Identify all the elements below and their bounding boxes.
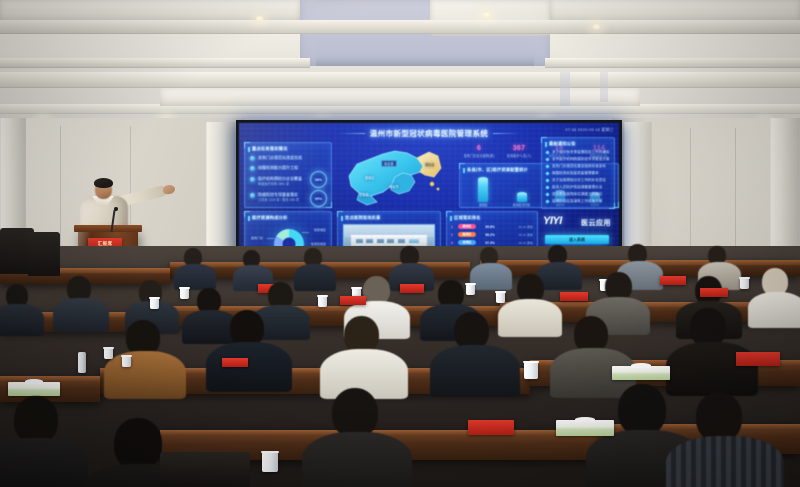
ceiling-strip	[560, 72, 570, 106]
tissue-box	[8, 382, 60, 396]
bar-label: 鹿城区	[479, 203, 487, 207]
map-island	[430, 182, 434, 186]
rank-percent: 99.8%	[479, 225, 501, 229]
person-head	[696, 392, 742, 442]
bar-column: 瓯海区/龙湾区	[513, 192, 531, 208]
heading-tick-icon	[450, 216, 452, 221]
news-row[interactable]: 发热门诊规范化建设验收标准发布	[546, 164, 610, 169]
panel-task-progress[interactable]: 重点任务落实情况 发热门诊规范化改造完成 核酸检测能力提升工程 医疗机构预检分诊…	[244, 142, 332, 208]
person-body	[430, 345, 520, 397]
ceiling-coffer	[550, 0, 800, 22]
person-head	[618, 384, 666, 436]
news-title: 关于做好秋冬季疫情防控工作的通知	[552, 150, 610, 155]
list-item[interactable]: 发热门诊规范化改造完成	[250, 155, 302, 161]
name-placard	[700, 288, 728, 297]
water-cup	[180, 288, 189, 299]
diamond-icon	[545, 164, 549, 168]
photo-window	[387, 239, 394, 242]
person-head	[114, 418, 162, 470]
map-label: 永嘉县	[381, 160, 397, 167]
news-row[interactable]: 关于加强预检分诊工作的补充意见	[546, 178, 610, 183]
dashboard-screen[interactable]: 温州市新型冠状病毒医院管理系统 07:38 2020-09-16 星期三 重点任…	[239, 123, 619, 259]
rank-number: 2	[451, 233, 455, 237]
panel-heading-text: 各县(市、区)医疗资源配置统计	[467, 167, 528, 173]
name-placard	[736, 352, 780, 366]
person-body	[666, 436, 784, 487]
list-item-label: 发热门诊规范化改造完成	[258, 155, 302, 160]
microphone-head	[114, 207, 118, 211]
diamond-icon	[545, 192, 549, 196]
kpi-card[interactable]: 367 在岗医护人员(人)	[499, 145, 539, 158]
rank-number: 1	[451, 225, 455, 229]
panel-heading: 医疗资源构成分析	[248, 214, 288, 222]
led-display-bezel: 温州市新型冠状病毒医院管理系统 07:38 2020-09-16 星期三 重点任…	[236, 120, 622, 262]
list-item-label: 院感防控专项督查落实	[250, 192, 298, 197]
person-body	[104, 351, 186, 399]
bullet-icon	[250, 166, 255, 171]
news-row[interactable]: 核酸检测实验室质量管理要求	[546, 171, 610, 176]
rank-number: 3	[451, 241, 455, 245]
news-row[interactable]: 全市医疗机构院感防控专项督查方案	[546, 157, 610, 162]
list-item[interactable]: 核酸检测能力提升工程	[250, 165, 298, 171]
diamond-icon	[545, 171, 549, 175]
list-item-sublabel: 覆盖医疗机构 2861 家	[250, 182, 289, 187]
rank-percent: 97.4%	[479, 241, 501, 245]
bar	[478, 178, 488, 202]
person-body	[498, 299, 562, 337]
photo-building	[351, 235, 427, 246]
list-item[interactable]: 医疗机构预检分诊全覆盖 覆盖医疗机构 2861 家	[250, 176, 302, 187]
donut-leader-line	[302, 232, 309, 233]
rank-date: 09-16 更新	[504, 233, 533, 237]
name-placard	[660, 276, 686, 285]
brand-logo: YIYI	[543, 215, 562, 227]
ceiling-beam	[0, 72, 800, 88]
title-wing-left	[339, 133, 365, 134]
region-map[interactable]: 永嘉县 鹿城区 瑞安市 苍南县 洞头区	[337, 142, 455, 208]
diamond-icon	[545, 178, 549, 182]
rank-badge: 瓯海区	[458, 232, 476, 237]
person-head	[14, 396, 58, 444]
panel-news-list[interactable]: 最新通知公告 关于做好秋冬季疫情防控工作的通知 全市医疗机构院感防控专项督查方案…	[541, 137, 615, 209]
panel-heading: 各县(市、区)医疗资源配置统计	[463, 166, 528, 174]
map-main-region	[349, 151, 423, 196]
kpi-value: 367	[499, 145, 539, 152]
news-row[interactable]: 定点救治医院床位调度工作指引	[546, 192, 610, 197]
heading-tick-icon	[248, 147, 250, 152]
water-cup	[150, 298, 159, 309]
water-cup	[524, 362, 538, 379]
rank-badge: 龙湾区	[458, 240, 476, 245]
bullet-icon	[250, 177, 255, 182]
photo-window	[409, 239, 420, 242]
person-body	[470, 263, 512, 290]
dashboard-clock: 07:38 2020-09-16 星期三	[565, 127, 614, 133]
news-row[interactable]: 疫情防控应急演练工作实施方案	[546, 199, 610, 204]
empty-chair	[28, 232, 60, 276]
news-title: 发热门诊规范化建设验收标准发布	[552, 164, 610, 169]
panel-heading-text: 定点医院现场实景	[345, 215, 381, 221]
panel-heading-text: 区域落实排名	[454, 215, 481, 221]
news-title: 定点救治医院床位调度工作指引	[552, 192, 610, 197]
ceiling-beam	[545, 58, 800, 68]
diamond-icon	[545, 157, 549, 161]
tissue-box	[612, 366, 670, 380]
person-body	[294, 264, 336, 291]
bar-label: 瓯海区/龙湾区	[513, 203, 531, 207]
news-title: 医务人员防护用品储备管理办法	[552, 185, 610, 190]
dashboard-title: 温州市新型冠状病毒医院管理系统	[370, 128, 489, 139]
map-label: 苍南县	[359, 192, 369, 197]
person-body	[748, 292, 800, 328]
bar	[517, 193, 527, 202]
ceiling-beam	[0, 58, 310, 68]
person-body	[302, 432, 412, 487]
map-svg	[337, 142, 455, 208]
heading-tick-icon	[545, 142, 547, 147]
brand-name: 医云应用	[581, 218, 611, 228]
map-highlight-label: 洞头区	[425, 162, 435, 167]
news-title: 核酸检测实验室质量管理要求	[552, 171, 610, 176]
panel-heading-text: 最新通知公告	[549, 141, 576, 147]
photo-window	[356, 239, 363, 242]
heading-tick-icon	[463, 168, 465, 173]
water-cup	[496, 292, 505, 303]
news-title: 疫情防控应急演练工作实施方案	[552, 199, 610, 204]
desk-top	[0, 376, 100, 381]
rank-badge: 鹿城区	[458, 224, 476, 229]
downlight	[482, 12, 491, 18]
panel-heading: 重点任务落实情况	[248, 145, 288, 153]
panel-heading-text: 医疗资源构成分析	[252, 215, 288, 221]
list-item[interactable]: 院感防控专项督查落实 已督查 1324 家 / 整改 286 项	[250, 192, 299, 203]
kpi-label: 在岗医护人员(人)	[499, 153, 539, 158]
water-cup	[740, 278, 749, 289]
list-item-sublabel: 已督查 1324 家 / 整改 286 项	[250, 198, 299, 203]
photo-window	[366, 239, 373, 242]
water-cup	[122, 356, 131, 367]
water-cup	[466, 284, 475, 295]
photo-window	[377, 239, 384, 242]
enter-system-button[interactable]: 进入系统	[545, 235, 609, 244]
photo-window	[398, 239, 405, 242]
ceiling	[0, 0, 800, 132]
ceiling-beam	[0, 20, 800, 34]
chair-back	[160, 452, 250, 487]
map-label: 鹿城区	[365, 175, 375, 180]
name-placard	[400, 284, 424, 293]
person-head	[332, 388, 378, 438]
progress-ring-1: 98%	[310, 171, 327, 188]
name-placard	[468, 420, 514, 435]
title-wing-right	[493, 133, 519, 134]
panel-heading: 区域落实排名	[450, 214, 481, 222]
rank-percent: 98.2%	[479, 233, 501, 237]
person-body	[0, 438, 88, 487]
water-cup	[262, 452, 278, 472]
tissue-box	[556, 420, 614, 436]
map-island	[437, 188, 440, 191]
diamond-icon	[545, 150, 549, 154]
list-item-label: 核酸检测能力提升工程	[258, 165, 298, 170]
ceiling-strip	[600, 72, 608, 102]
rank-row[interactable]: 2 瓯海区 98.2% 09-16 更新	[451, 232, 533, 237]
downlight	[592, 24, 601, 30]
rank-date: 09-15 更新	[504, 241, 533, 245]
diamond-icon	[545, 185, 549, 189]
name-placard	[222, 358, 248, 367]
name-placard	[560, 292, 588, 301]
news-row[interactable]: 医务人员防护用品储备管理办法	[546, 185, 610, 190]
name-placard	[340, 296, 366, 305]
panel-heading: 定点医院现场实景	[341, 214, 381, 222]
downlight	[255, 16, 264, 22]
progress-ring-2: 95%	[310, 190, 327, 207]
bar-column: 鹿城区	[478, 177, 488, 208]
heading-tick-icon	[341, 216, 343, 221]
donut-leader-line	[267, 238, 274, 239]
list-item-label: 医疗机构预检分诊全覆盖	[250, 176, 302, 181]
thermos-bottle	[78, 352, 86, 373]
water-cup	[104, 348, 113, 359]
kpi-card[interactable]: 6 发热门诊定点医院(家)	[459, 145, 499, 158]
speaker-hair	[94, 178, 113, 188]
news-title: 全市医疗机构院感防控专项督查方案	[552, 157, 610, 162]
panel-heading-text: 重点任务落实情况	[252, 146, 288, 152]
person-body	[206, 342, 292, 392]
kpi-label: 发热门诊定点医院(家)	[459, 153, 499, 158]
conference-room-photo: 温州市新型冠状病毒医院管理系统 07:38 2020-09-16 星期三 重点任…	[0, 0, 800, 487]
rank-date: 09-16 更新	[504, 225, 533, 229]
donut-label: 发热门诊	[251, 236, 263, 240]
water-cup	[318, 296, 327, 307]
rank-row[interactable]: 1 鹿城区 99.8% 09-16 更新	[451, 224, 533, 229]
panel-heading: 最新通知公告	[545, 140, 576, 148]
heading-tick-icon	[248, 216, 250, 221]
bullet-icon	[250, 193, 255, 198]
donut-label: 隔离病区	[314, 228, 326, 232]
person-body	[666, 342, 758, 396]
kpi-value: 6	[459, 145, 499, 152]
rank-row[interactable]: 3 龙湾区 97.4% 09-15 更新	[451, 240, 533, 245]
map-label: 瑞安市	[389, 184, 399, 189]
news-row[interactable]: 关于做好秋冬季疫情防控工作的通知	[546, 150, 610, 155]
diamond-icon	[545, 199, 549, 203]
news-title: 关于加强预检分诊工作的补充意见	[552, 178, 610, 183]
person-body	[0, 304, 44, 336]
person-body	[53, 298, 109, 332]
podium-top	[74, 225, 142, 232]
bullet-icon	[250, 156, 255, 161]
